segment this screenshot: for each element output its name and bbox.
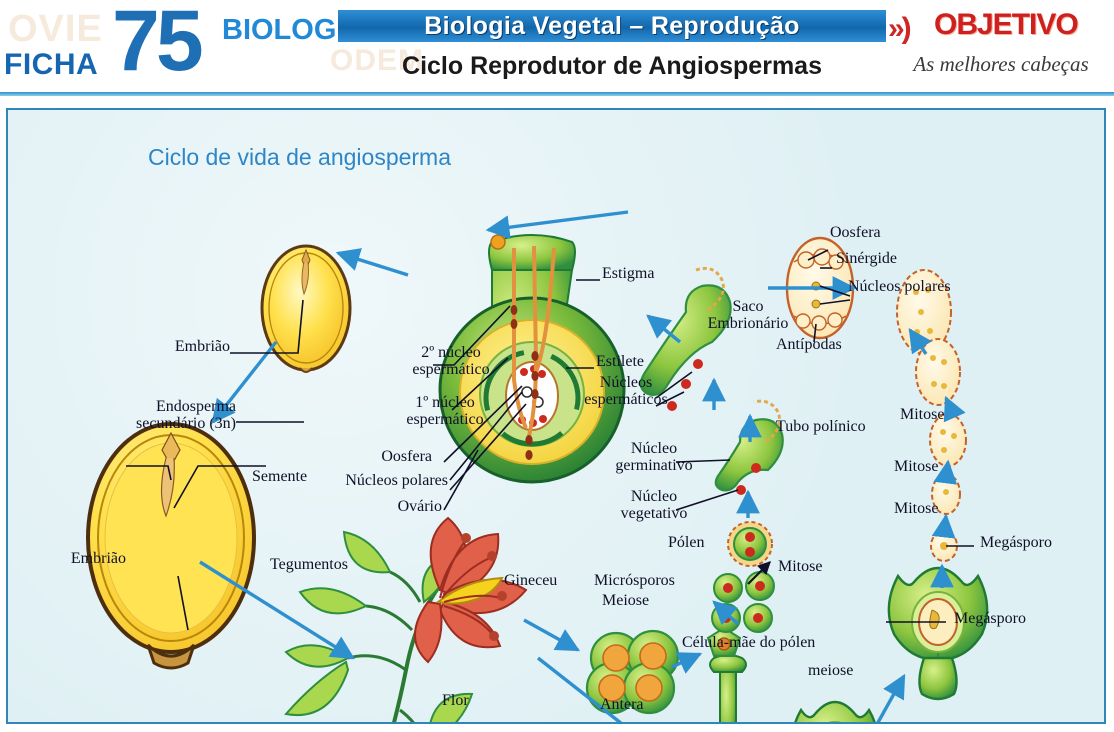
label-mitose-3: Mitose [900,406,944,423]
label-tegumentos: Tegumentos [270,556,348,573]
label-embriao-top: Embrião [54,338,230,355]
label-gineceu-top: Gineceu [504,572,557,589]
label-embriao-big: Embrião [6,550,126,567]
brand-logo: ») OBJETIVO [888,8,1110,44]
cycle-arrows [200,212,954,724]
diagram-panel: Ciclo de vida de angiosperma [6,108,1106,724]
label-endosperma-top: Endosperma secundário (3n) [22,398,236,432]
ficha-page: OVIE ODEM FICHA 75 BIOLOGIA Biologia Veg… [0,0,1114,732]
brand-mark-icon: ») [888,12,909,46]
label-nucleo-esp-1: 1º núcleo espermático [386,394,504,428]
mitosis-pointer [748,562,770,584]
ficha-number: 75 [112,0,200,84]
ghost-text-left: OVIE [8,8,103,51]
label-oosfera-sac: Oosfera [830,224,881,241]
label-oosfera-ovary: Oosfera [308,448,432,465]
label-nucleos-espermaticos: Núcleos espermáticos [564,374,688,408]
banner-title-bar: Biologia Vegetal – Reprodução [338,10,886,42]
label-celula-mae-polen: Célula-mãe do pólen [682,634,815,651]
diagram-title: Ciclo de vida de angiosperma [148,144,451,171]
label-nucleos-polares-ov: Núcleos polares [276,472,448,489]
label-ovario: Ovário [328,498,442,515]
label-estigma: Estigma [602,265,654,282]
label-flor: Flor [442,692,469,709]
label-meiose-mega: meiose [808,662,853,679]
label-antera: Antera [600,696,644,713]
page-subtitle: Ciclo Reprodutor de Angiospermas [338,52,886,81]
label-microsporos: Micrósporos [594,572,675,589]
brand-name: OBJETIVO [934,8,1078,42]
ficha-label: FICHA [4,48,98,82]
page-header: OVIE ODEM FICHA 75 BIOLOGIA Biologia Veg… [0,0,1114,100]
label-megasporo-ovule: Megásporo [954,610,1026,627]
label-polen: Pólen [668,534,704,551]
label-meiose-micro: Meiose [602,592,649,609]
label-estilete: Estilete [596,353,644,370]
label-nucleo-germinativo: Núcleo germinativo [600,440,708,474]
header-divider [0,92,1114,96]
label-nucleo-vegetativo: Núcleo vegetativo [600,488,708,522]
label-megasporo-free: Megásporo [980,534,1052,551]
label-sinergide: Sinérgide [836,250,897,267]
label-antipodas: Antípodas [776,336,842,353]
label-mitose-1: Mitose [894,500,938,517]
brand-slogan: As melhores cabeças [894,52,1108,77]
label-mitose-polen: Mitose [778,558,822,575]
label-tubo-polinico: Tubo polínico [776,418,866,435]
label-mitose-2: Mitose [894,458,938,475]
leader-lines [126,250,974,724]
label-nucleo-esp-2: 2º núcleo espermático [392,344,510,378]
label-nucleos-polares-sac: Núcleos polares [848,278,951,295]
label-celula-mae-megasporo: Célula-mãe do megásporo [864,722,1032,724]
banner-title-text: Biologia Vegetal – Reprodução [338,10,886,42]
label-saco-embrionario: Saco Embrionário [698,298,798,332]
